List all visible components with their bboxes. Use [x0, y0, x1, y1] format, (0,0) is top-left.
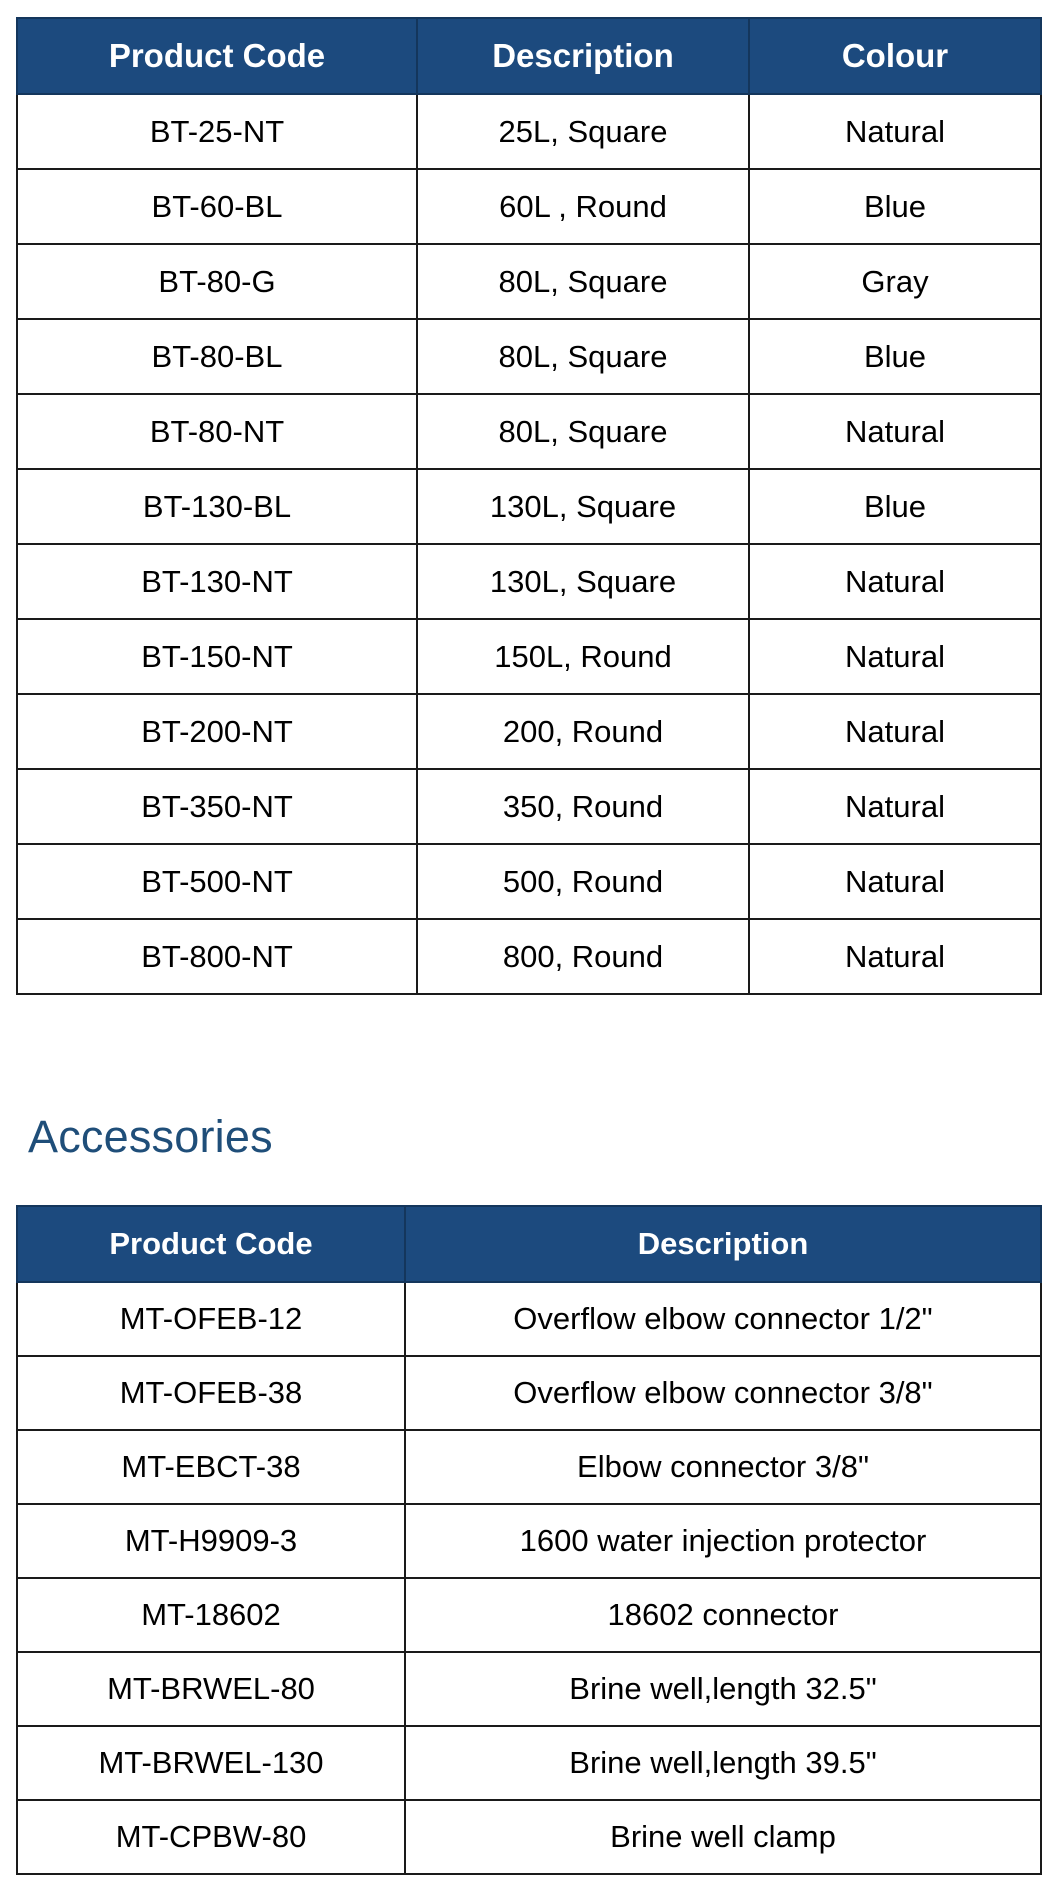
cell-product-code: MT-CPBW-80 [17, 1800, 405, 1874]
cell-description: Elbow connector 3/8" [405, 1430, 1041, 1504]
cell-description: 150L, Round [417, 619, 749, 694]
cell-colour: Natural [749, 769, 1041, 844]
table-row: BT-500-NT 500, Round Natural [17, 844, 1041, 919]
table-row: BT-60-BL 60L , Round Blue [17, 169, 1041, 244]
table-row: MT-BRWEL-130 Brine well,length 39.5" [17, 1726, 1041, 1800]
cell-description: 80L, Square [417, 244, 749, 319]
table-row: BT-150-NT 150L, Round Natural [17, 619, 1041, 694]
table-row: MT-OFEB-12 Overflow elbow connector 1/2" [17, 1282, 1041, 1356]
cell-colour: Gray [749, 244, 1041, 319]
cell-description: 800, Round [417, 919, 749, 994]
cell-product-code: MT-EBCT-38 [17, 1430, 405, 1504]
cell-description: 500, Round [417, 844, 749, 919]
cell-description: 25L, Square [417, 94, 749, 169]
cell-description: Brine well,length 39.5" [405, 1726, 1041, 1800]
accessories-table: Product Code Description MT-OFEB-12 Over… [16, 1205, 1042, 1875]
cell-colour: Blue [749, 469, 1041, 544]
column-header-product-code: Product Code [17, 1206, 405, 1282]
products-table-body: BT-25-NT 25L, Square Natural BT-60-BL 60… [17, 94, 1041, 994]
cell-product-code: MT-H9909-3 [17, 1504, 405, 1578]
cell-product-code: MT-BRWEL-130 [17, 1726, 405, 1800]
cell-description: 130L, Square [417, 544, 749, 619]
cell-product-code: BT-80-NT [17, 394, 417, 469]
cell-product-code: BT-130-BL [17, 469, 417, 544]
cell-description: Brine well clamp [405, 1800, 1041, 1874]
cell-colour: Natural [749, 619, 1041, 694]
cell-description: 1600 water injection protector [405, 1504, 1041, 1578]
cell-product-code: BT-150-NT [17, 619, 417, 694]
table-row: BT-80-BL 80L, Square Blue [17, 319, 1041, 394]
cell-product-code: BT-200-NT [17, 694, 417, 769]
cell-product-code: MT-BRWEL-80 [17, 1652, 405, 1726]
table-row: BT-130-NT 130L, Square Natural [17, 544, 1041, 619]
cell-description: Overflow elbow connector 3/8" [405, 1356, 1041, 1430]
accessories-table-body: MT-OFEB-12 Overflow elbow connector 1/2"… [17, 1282, 1041, 1874]
accessories-table-header: Product Code Description [17, 1206, 1041, 1282]
cell-description: 18602 connector [405, 1578, 1041, 1652]
table-header-row: Product Code Description [17, 1206, 1041, 1282]
cell-product-code: BT-60-BL [17, 169, 417, 244]
cell-product-code: MT-18602 [17, 1578, 405, 1652]
cell-colour: Natural [749, 844, 1041, 919]
table-row: BT-80-NT 80L, Square Natural [17, 394, 1041, 469]
cell-product-code: BT-800-NT [17, 919, 417, 994]
cell-product-code: BT-350-NT [17, 769, 417, 844]
cell-colour: Natural [749, 94, 1041, 169]
cell-description: 80L, Square [417, 319, 749, 394]
cell-colour: Natural [749, 694, 1041, 769]
datasheet-page: Product Code Description Colour BT-25-NT… [0, 0, 1060, 1897]
cell-product-code: BT-80-BL [17, 319, 417, 394]
cell-colour: Blue [749, 169, 1041, 244]
table-row: MT-OFEB-38 Overflow elbow connector 3/8" [17, 1356, 1041, 1430]
cell-product-code: BT-25-NT [17, 94, 417, 169]
table-row: BT-80-G 80L, Square Gray [17, 244, 1041, 319]
cell-description: 60L , Round [417, 169, 749, 244]
cell-colour: Natural [749, 919, 1041, 994]
table-header-row: Product Code Description Colour [17, 18, 1041, 94]
cell-description: 80L, Square [417, 394, 749, 469]
table-row: MT-CPBW-80 Brine well clamp [17, 1800, 1041, 1874]
table-row: BT-130-BL 130L, Square Blue [17, 469, 1041, 544]
accessories-section-heading: Accessories [28, 1114, 273, 1159]
cell-product-code: MT-OFEB-38 [17, 1356, 405, 1430]
cell-product-code: BT-500-NT [17, 844, 417, 919]
table-row: BT-350-NT 350, Round Natural [17, 769, 1041, 844]
cell-colour: Natural [749, 544, 1041, 619]
cell-product-code: MT-OFEB-12 [17, 1282, 405, 1356]
table-row: BT-200-NT 200, Round Natural [17, 694, 1041, 769]
table-row: MT-EBCT-38 Elbow connector 3/8" [17, 1430, 1041, 1504]
table-row: MT-H9909-3 1600 water injection protecto… [17, 1504, 1041, 1578]
cell-description: 200, Round [417, 694, 749, 769]
cell-description: 130L, Square [417, 469, 749, 544]
table-row: MT-18602 18602 connector [17, 1578, 1041, 1652]
column-header-colour: Colour [749, 18, 1041, 94]
cell-colour: Natural [749, 394, 1041, 469]
cell-colour: Blue [749, 319, 1041, 394]
cell-description: Brine well,length 32.5" [405, 1652, 1041, 1726]
table-row: BT-25-NT 25L, Square Natural [17, 94, 1041, 169]
cell-description: Overflow elbow connector 1/2" [405, 1282, 1041, 1356]
table-row: BT-800-NT 800, Round Natural [17, 919, 1041, 994]
column-header-description: Description [417, 18, 749, 94]
column-header-description: Description [405, 1206, 1041, 1282]
column-header-product-code: Product Code [17, 18, 417, 94]
cell-product-code: BT-130-NT [17, 544, 417, 619]
table-row: MT-BRWEL-80 Brine well,length 32.5" [17, 1652, 1041, 1726]
cell-description: 350, Round [417, 769, 749, 844]
cell-product-code: BT-80-G [17, 244, 417, 319]
products-table-header: Product Code Description Colour [17, 18, 1041, 94]
products-table: Product Code Description Colour BT-25-NT… [16, 17, 1042, 995]
